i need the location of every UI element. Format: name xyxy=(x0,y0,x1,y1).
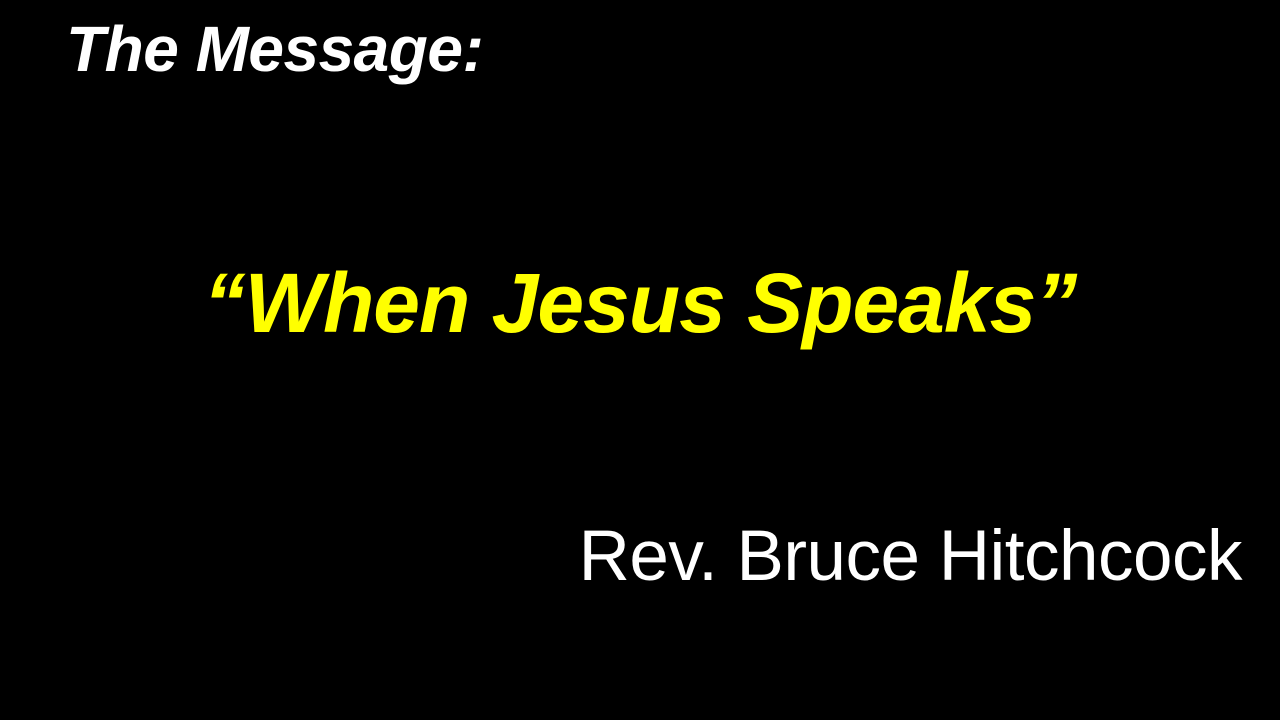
sermon-title: “When Jesus Speaks” xyxy=(0,261,1280,345)
presentation-slide: The Message: “When Jesus Speaks” Rev. Br… xyxy=(0,0,1280,720)
slide-heading: The Message: xyxy=(66,17,483,81)
speaker-name: Rev. Bruce Hitchcock xyxy=(579,521,1242,592)
